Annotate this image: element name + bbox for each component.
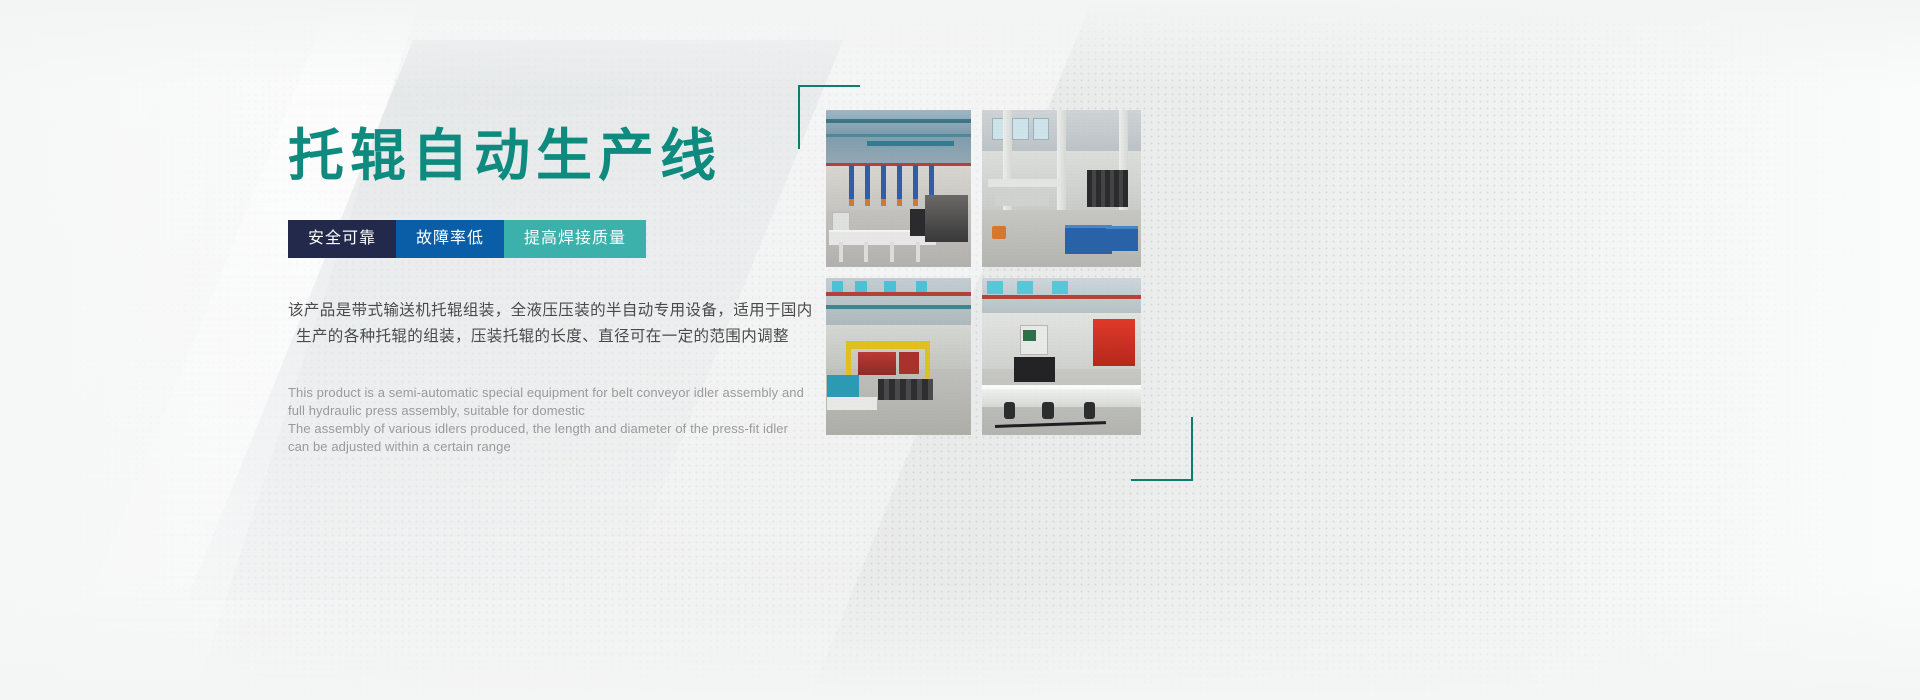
description-english-line-1: This product is a semi-automatic special… (288, 384, 758, 402)
description-english: This product is a semi-automatic special… (288, 384, 758, 456)
background-fade-top (0, 0, 1920, 90)
banner-text-column: 托辊自动生产线 安全可靠 故障率低 提高焊接质量 该产品是带式输送机托辊组装，全… (288, 126, 758, 456)
photo-workshop-bins[interactable] (982, 110, 1141, 267)
page-title: 托辊自动生产线 (288, 126, 758, 186)
description-chinese-line-2: 生产的各种托辊的组装，压装托辊的长度、直径可在一定的范围内调整 (288, 324, 758, 350)
photo-press-machines[interactable] (826, 278, 971, 435)
badge-low-failure-rate[interactable]: 故障率低 (396, 220, 504, 258)
badge-safe-reliable[interactable]: 安全可靠 (288, 220, 396, 258)
photo-gallery (826, 110, 1152, 435)
banner-root: 托辊自动生产线 安全可靠 故障率低 提高焊接质量 该产品是带式输送机托辊组装，全… (0, 0, 1920, 700)
description-english-line-3: The assembly of various idlers produced,… (288, 420, 758, 438)
badge-improve-weld-quality[interactable]: 提高焊接质量 (504, 220, 646, 258)
description-english-line-4: can be adjusted within a certain range (288, 438, 758, 456)
photo-red-welder[interactable] (982, 278, 1141, 435)
feature-badge-group: 安全可靠 故障率低 提高焊接质量 (288, 220, 646, 258)
photo-conveyor-line[interactable] (826, 110, 971, 267)
photo-grid (826, 110, 1152, 435)
description-chinese: 该产品是带式输送机托辊组装，全液压压装的半自动专用设备，适用于国内 生产的各种托… (288, 298, 758, 350)
description-english-line-2: full hydraulic press assembly, suitable … (288, 402, 758, 420)
background-fade-bottom (0, 580, 1920, 700)
description-chinese-line-1: 该产品是带式输送机托辊组装，全液压压装的半自动专用设备，适用于国内 (288, 298, 758, 324)
